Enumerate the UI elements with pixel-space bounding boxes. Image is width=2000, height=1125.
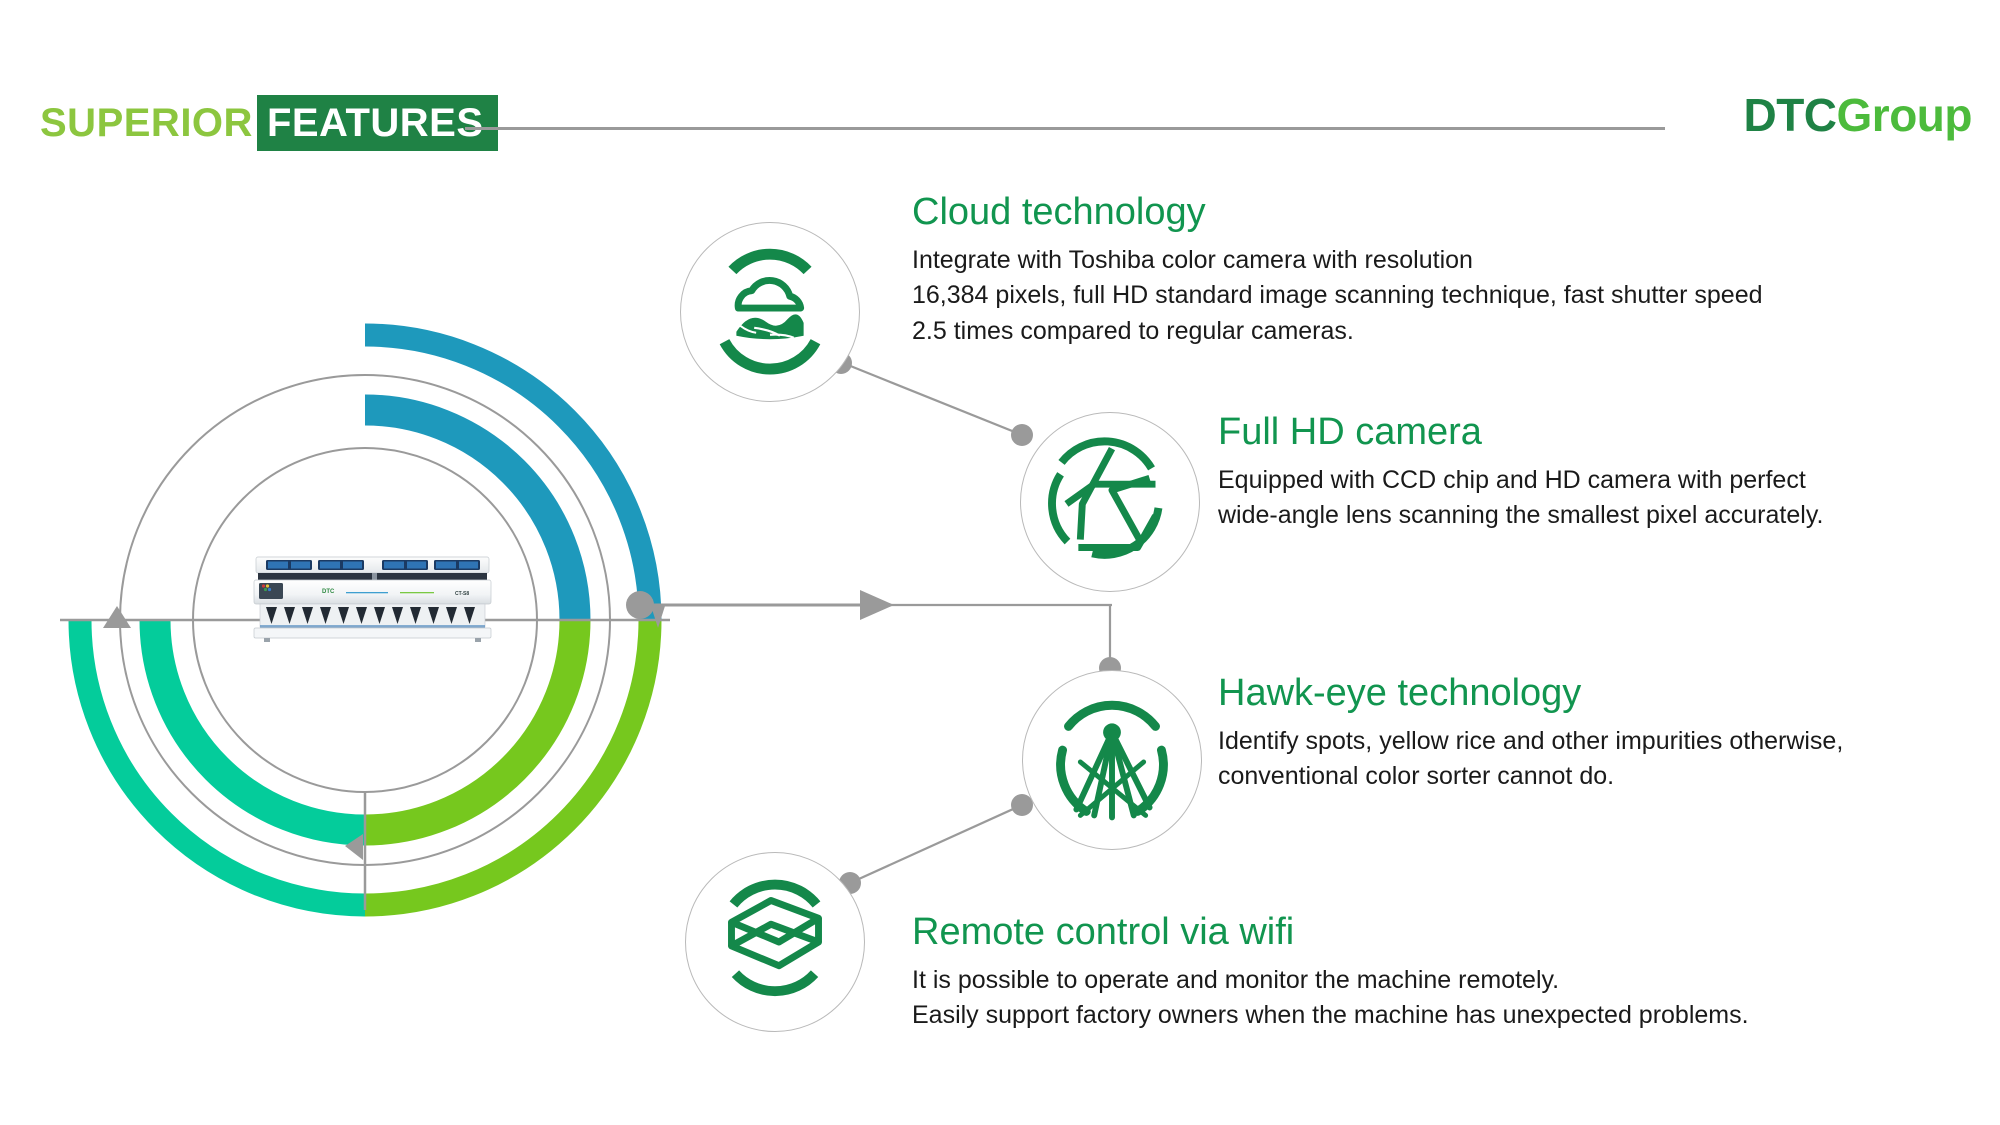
color-sorter-machine: DTC CT-S8 bbox=[250, 555, 495, 645]
feature-title-wifi: Remote control via wifi bbox=[912, 912, 1749, 954]
node-hawk-eye-technology[interactable] bbox=[1022, 670, 1202, 850]
infographic-slide: SUPERIOR FEATURES DTCGroup bbox=[0, 0, 2000, 1125]
feature-title-camera: Full HD camera bbox=[1218, 412, 1823, 454]
feature-title-cloud: Cloud technology bbox=[912, 192, 1763, 234]
feature-body-hawk: Identify spots, yellow rice and other im… bbox=[1218, 724, 1843, 795]
feature-body-wifi: It is possible to operate and monitor th… bbox=[912, 963, 1749, 1034]
camera-aperture-icon bbox=[1021, 413, 1199, 591]
node-full-hd-camera[interactable] bbox=[1020, 412, 1200, 592]
feature-text-hawk: Hawk-eye technology Identify spots, yell… bbox=[1218, 673, 1843, 795]
svg-text:DTC: DTC bbox=[322, 589, 335, 595]
feature-text-camera: Full HD camera Equipped with CCD chip an… bbox=[1218, 412, 1823, 534]
logo-text-dtc: DTC bbox=[1743, 89, 1836, 141]
hawk-eye-icon bbox=[1023, 671, 1201, 849]
link-cloud-camera bbox=[843, 363, 1022, 435]
feature-body-cloud: Integrate with Toshiba color camera with… bbox=[912, 243, 1763, 350]
inner-ring-green bbox=[365, 620, 575, 830]
header: SUPERIOR FEATURES DTCGroup bbox=[0, 0, 2000, 160]
logo-text-group: Group bbox=[1837, 89, 1972, 141]
cloud-technology-icon bbox=[681, 223, 859, 401]
dtcgroup-logo: DTCGroup bbox=[1743, 88, 1972, 142]
title-features: FEATURES bbox=[257, 95, 498, 151]
feature-text-cloud: Cloud technology Integrate with Toshiba … bbox=[912, 192, 1763, 349]
page-title: SUPERIOR FEATURES bbox=[40, 95, 498, 151]
hub-arrowhead bbox=[860, 590, 894, 620]
link-wifi-hawk bbox=[850, 805, 1022, 883]
feature-title-hawk: Hawk-eye technology bbox=[1218, 673, 1843, 715]
node-cloud-technology[interactable] bbox=[680, 222, 860, 402]
arrow-up-left bbox=[103, 606, 131, 628]
feature-text-wifi: Remote control via wifi It is possible t… bbox=[912, 912, 1749, 1034]
inner-ring-emerald bbox=[155, 620, 365, 830]
node-remote-control-wifi[interactable] bbox=[685, 852, 865, 1032]
remote-wifi-icon bbox=[686, 853, 864, 1031]
title-superior: SUPERIOR bbox=[40, 95, 257, 151]
svg-text:CT-S8: CT-S8 bbox=[455, 591, 469, 597]
header-divider bbox=[465, 127, 1665, 130]
feature-body-camera: Equipped with CCD chip and HD camera wit… bbox=[1218, 463, 1823, 534]
